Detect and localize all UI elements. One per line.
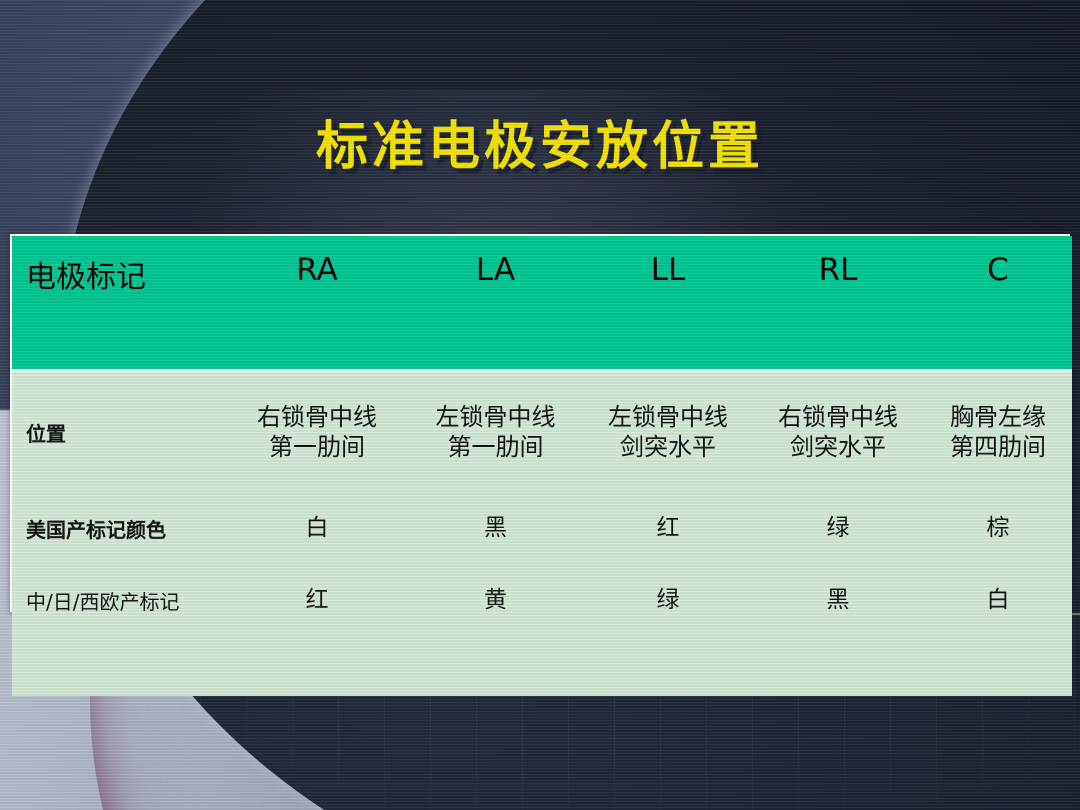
cell-line-1: 胸骨左缘 [925,402,1071,432]
spacer-cell [12,636,227,696]
electrode-placement-table: 电极标记 RA LA LL RL C 位置 右锁骨中线 第一肋间 左锁骨中线 [10,234,1070,612]
cell-position-rl: 右锁骨中线 剑突水平 [752,371,924,493]
header-lead-ra: RA [227,236,407,371]
cell-usa-color-la: 黑 [407,492,584,564]
cell-line-2: 第一肋间 [408,432,583,462]
cell-usa-color-ra: 白 [227,492,407,564]
table-row: 位置 右锁骨中线 第一肋间 左锁骨中线 第一肋间 左锁骨中线 剑突水平 右锁骨 [12,371,1072,493]
cell-position-c: 胸骨左缘 第四肋间 [924,371,1072,493]
cell-usa-color-rl: 绿 [752,492,924,564]
header-lead-c: C [924,236,1072,371]
cell-intl-color-rl: 黑 [752,564,924,636]
spacer-cell [924,636,1072,696]
cell-intl-color-la: 黄 [407,564,584,636]
spacer-cell [227,636,407,696]
cell-position-ra: 右锁骨中线 第一肋间 [227,371,407,493]
cell-line-1: 右锁骨中线 [228,402,406,432]
cell-intl-color-ra: 红 [227,564,407,636]
cell-intl-color-c: 白 [924,564,1072,636]
table-row: 中/日/西欧产标记 红 黄 绿 黑 白 [12,564,1072,636]
row-label-usa-color: 美国产标记颜色 [12,492,227,564]
cell-position-ll: 左锁骨中线 剑突水平 [584,371,752,493]
cell-line-1: 左锁骨中线 [585,402,751,432]
slide-canvas: 标准电极安放位置 电极标记 RA LA LL RL C 位置 [0,0,1080,810]
cell-usa-color-c: 棕 [924,492,1072,564]
cell-line-1: 左锁骨中线 [408,402,583,432]
page-title: 标准电极安放位置 [0,104,1080,179]
table-row: 美国产标记颜色 白 黑 红 绿 棕 [12,492,1072,564]
table-row-spacer [12,636,1072,696]
spacer-cell [584,636,752,696]
cell-line-2: 第四肋间 [925,432,1071,462]
cell-usa-color-ll: 红 [584,492,752,564]
header-electrode-marker: 电极标记 [12,236,227,371]
cell-line-2: 第一肋间 [228,432,406,462]
row-label-position: 位置 [12,371,227,493]
cell-position-la: 左锁骨中线 第一肋间 [407,371,584,493]
header-lead-ll: LL [584,236,752,371]
cell-line-1: 右锁骨中线 [753,402,923,432]
header-lead-rl: RL [752,236,924,371]
header-lead-la: LA [407,236,584,371]
spacer-cell [407,636,584,696]
table-header-row: 电极标记 RA LA LL RL C [12,236,1072,371]
spacer-cell [752,636,924,696]
cell-intl-color-ll: 绿 [584,564,752,636]
row-label-intl-marker: 中/日/西欧产标记 [12,564,227,636]
cell-line-2: 剑突水平 [585,432,751,462]
cell-line-2: 剑突水平 [753,432,923,462]
